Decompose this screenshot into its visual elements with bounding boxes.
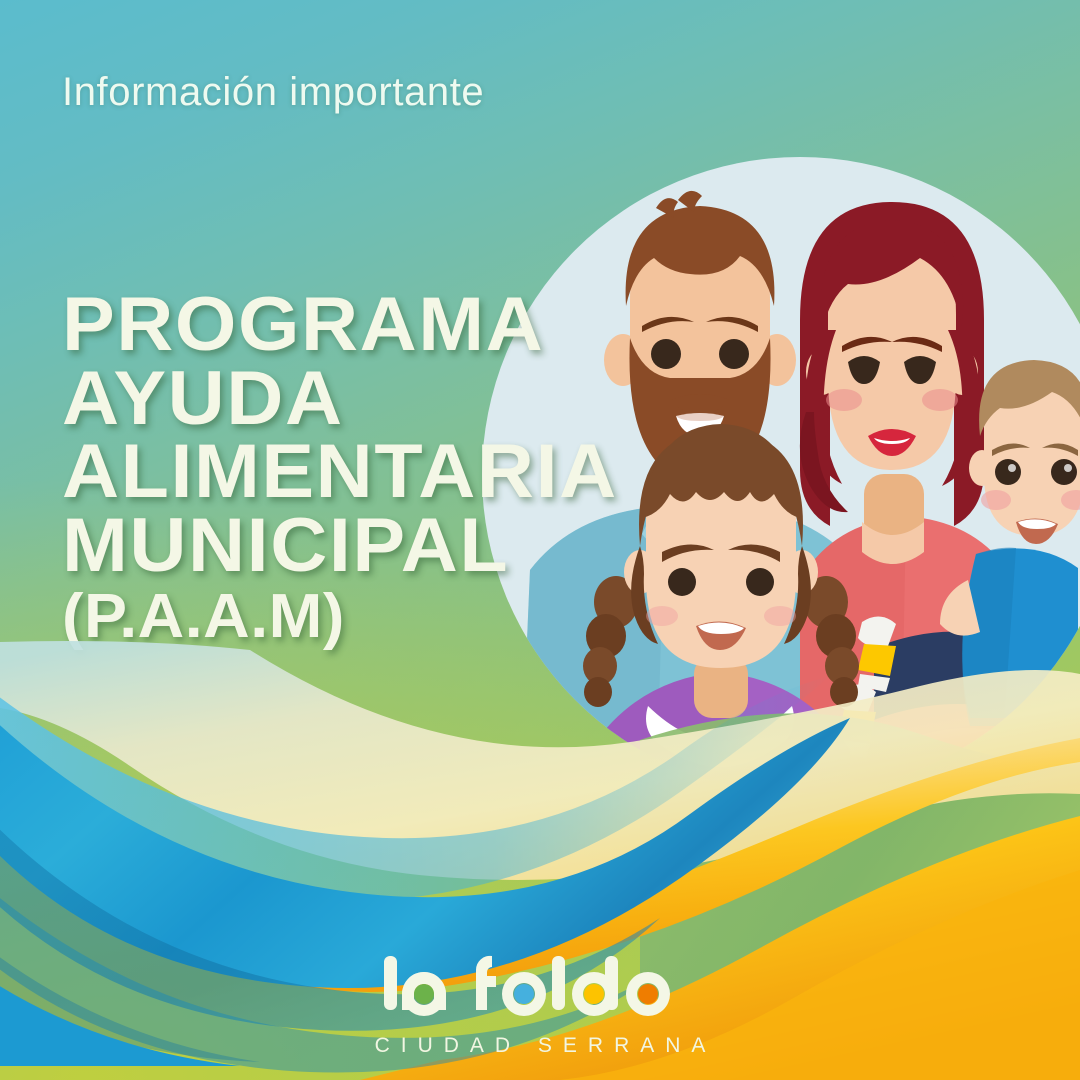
logo-tagline: CIUDAD SERRANA (0, 1034, 1080, 1058)
logo-dot-blue (514, 984, 534, 1004)
headline-line-1: PROGRAMA (62, 288, 644, 362)
page-title: PROGRAMA AYUDA ALIMENTARIA MUNICIPAL (P.… (62, 288, 622, 647)
brand-logo[interactable]: CIUDAD SERRANA (0, 954, 1080, 1058)
kicker-text: Información importante (62, 70, 484, 115)
logo-dot-yellow (584, 984, 604, 1004)
headline-line-3: ALIMENTARIA (62, 435, 644, 509)
headline-line-4: MUNICIPAL (62, 509, 644, 583)
headline-line-2: AYUDA (62, 362, 644, 436)
logo-dot-orange (638, 984, 658, 1004)
poster-canvas: Información importante PROGRAMA AYUDA AL… (0, 0, 1080, 1080)
la-falda-wordmark (380, 954, 700, 1026)
logo-dot-green (414, 984, 434, 1004)
